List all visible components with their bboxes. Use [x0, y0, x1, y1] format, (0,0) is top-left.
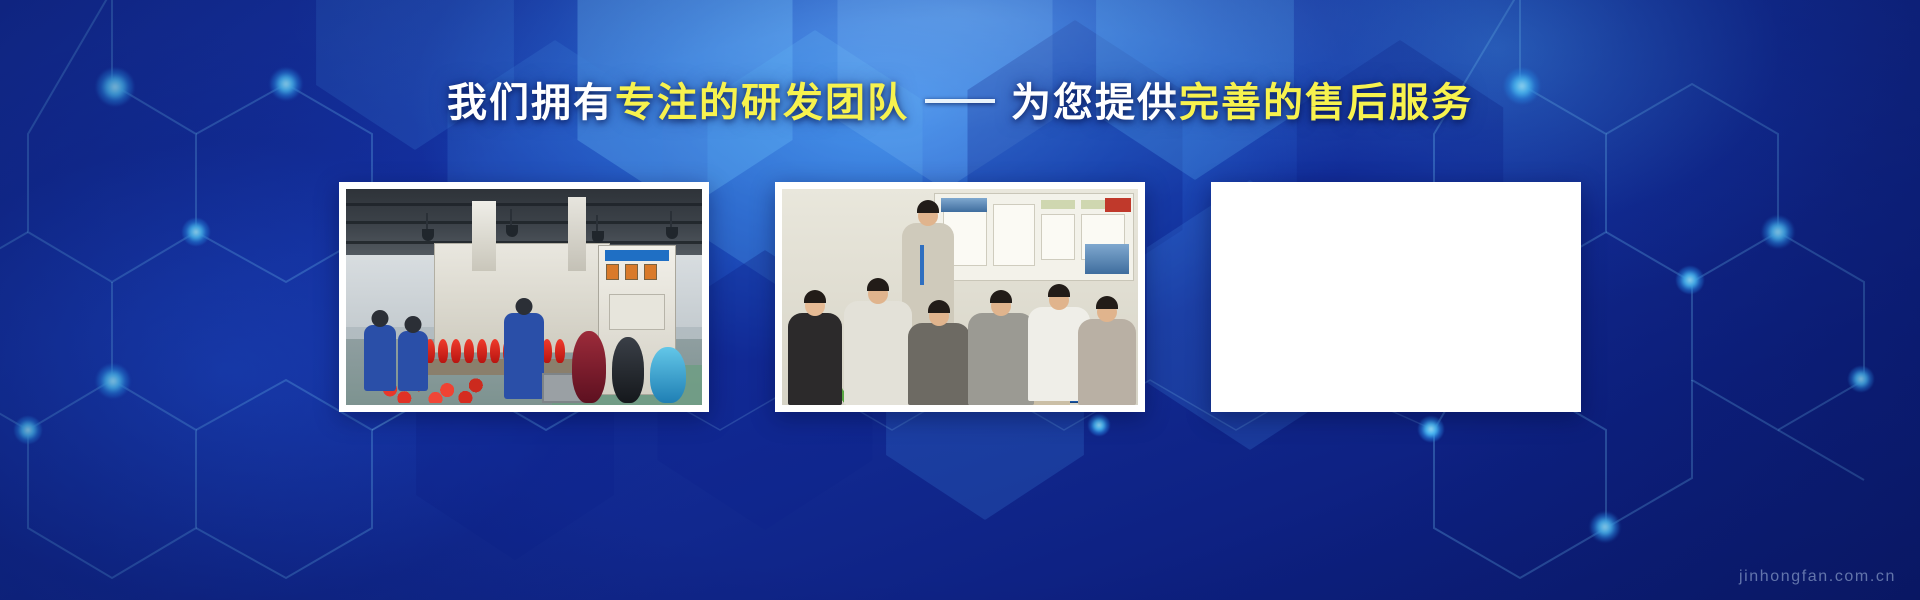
- headline-segment-3: 为您提供: [1011, 81, 1179, 125]
- photo-equipment-collage: [1218, 189, 1574, 405]
- headline-segment-2: 专注的研发团队: [615, 81, 909, 125]
- photo-frame-equipment-collage[interactable]: [1211, 182, 1581, 412]
- headline-segment-1: 我们拥有: [447, 81, 615, 125]
- page-title: 我们拥有专注的研发团队为您提供完善的售后服务: [0, 78, 1920, 128]
- photo-team-meeting: [782, 189, 1138, 405]
- watermark: jinhongfan.com.cn: [1739, 568, 1896, 586]
- photo-frame-production-line[interactable]: [339, 182, 709, 412]
- promotional-banner: 我们拥有专注的研发团队为您提供完善的售后服务: [0, 0, 1920, 600]
- photo-gallery: [0, 182, 1920, 412]
- photo-production-line: [346, 189, 702, 405]
- photo-frame-team-meeting[interactable]: [775, 182, 1145, 412]
- headline-dash: [925, 99, 995, 103]
- headline-segment-4: 完善的售后服务: [1179, 81, 1473, 125]
